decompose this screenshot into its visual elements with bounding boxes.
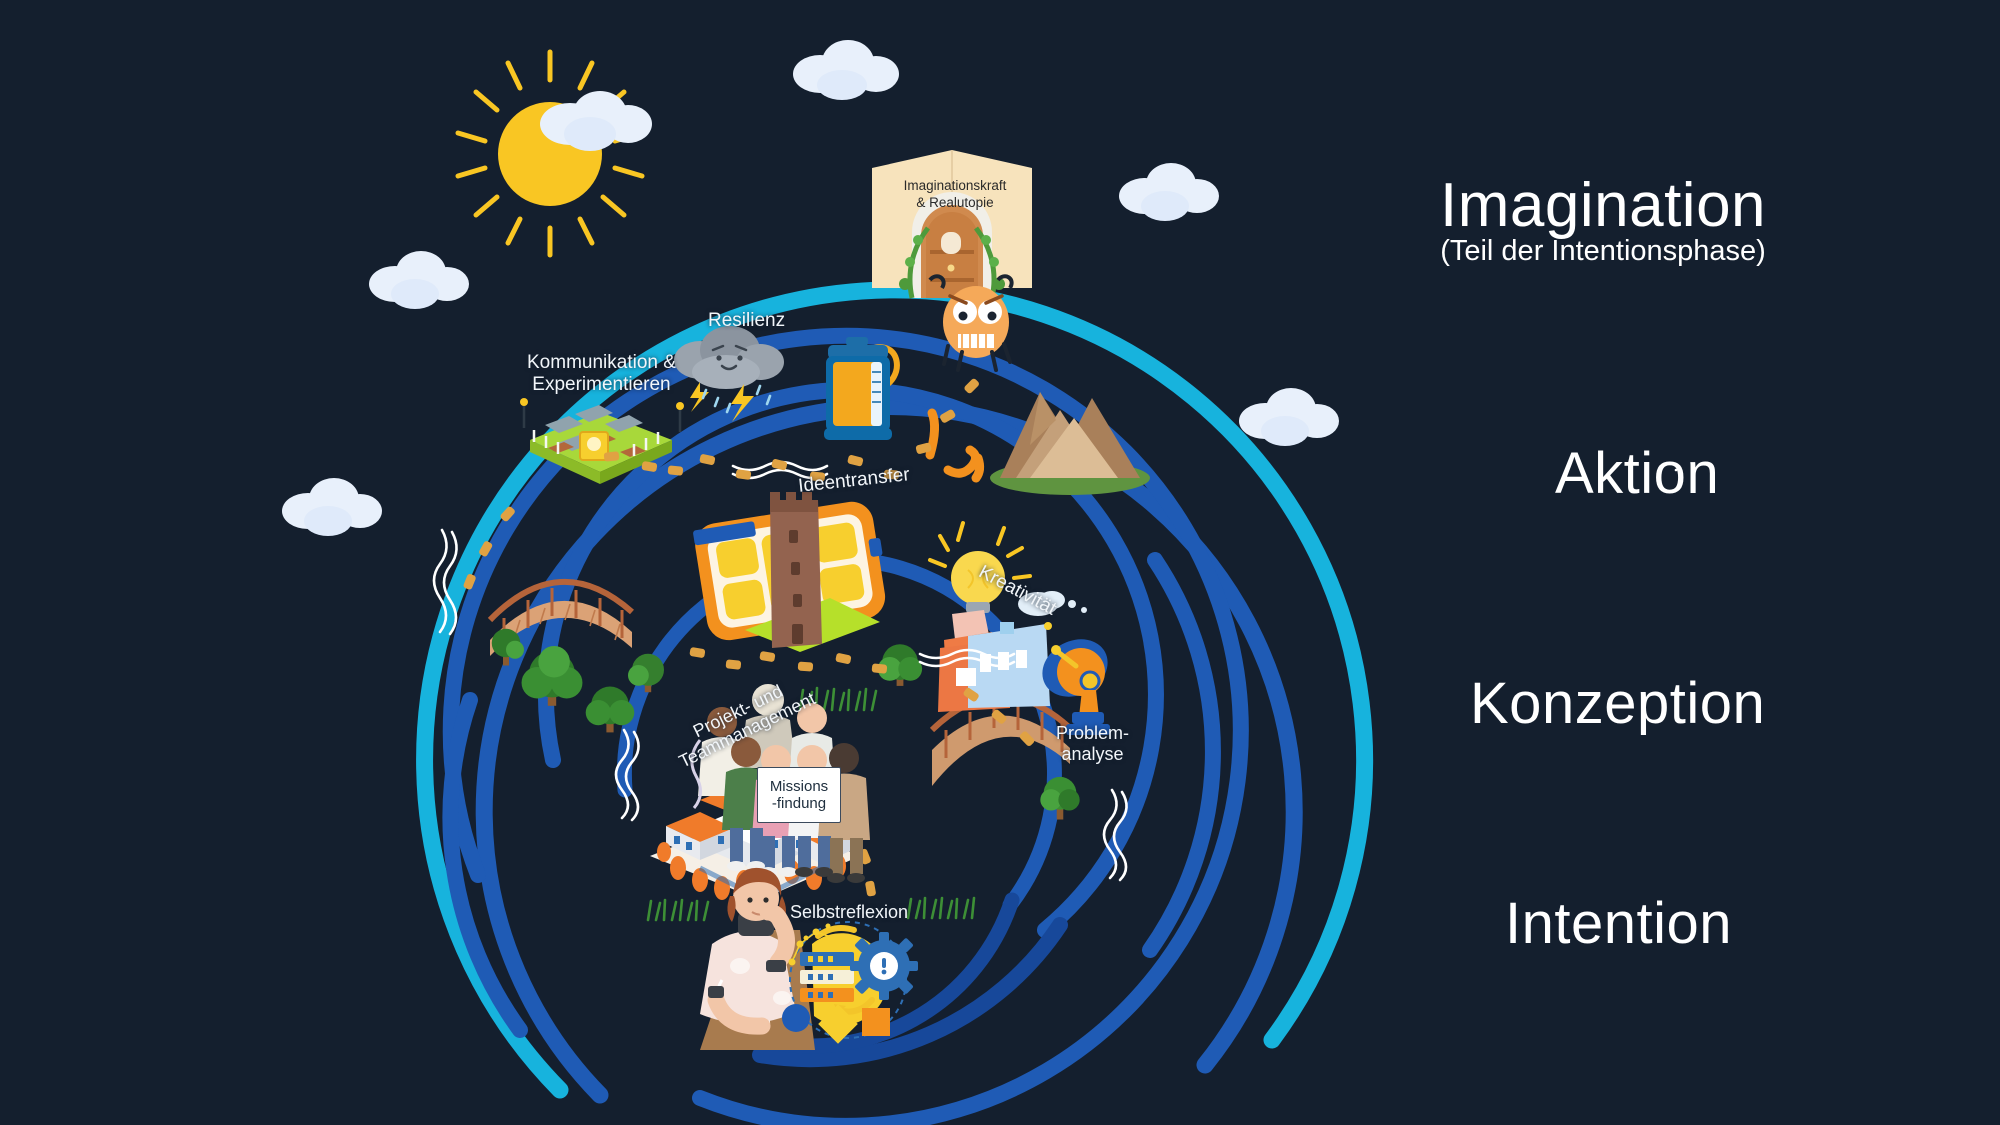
mission-box: Missions -findung [757,767,841,823]
label-kommunikation-line1: Kommunikation & [527,352,676,373]
label-problemanalyse-line1: Problem- [1056,723,1129,743]
label-kommunikation: Kommunikation & Experimentieren [527,352,676,396]
lantern-icon [824,337,897,440]
phase-title-aktion: Aktion [1555,441,1719,506]
phase-label-aktion: Aktion [1555,440,1719,507]
door-caption-line1: Imaginationskraft [904,178,1007,193]
infographic-canvas: Imaginationskraft & Realutopie Missions … [0,0,2000,1125]
mission-box-line2: -findung [772,795,826,812]
cloud-icon [282,40,1339,536]
phase-title-intention: Intention [1505,891,1732,956]
door-caption: Imaginationskraft & Realutopie [895,178,1015,212]
label-problemanalyse: Problem- analyse [1056,723,1129,764]
mission-box-line1: Missions [770,778,828,795]
tower-icon [770,492,822,648]
label-selbstreflexion-line1: Selbstreflexion [790,902,908,922]
label-problemanalyse-line2: analyse [1061,744,1123,764]
phase-subtitle-imagination: (Teil der Intentionsphase) [1440,235,1766,268]
label-selbstreflexion: Selbstreflexion [790,902,908,923]
phase-label-intention: Intention [1505,890,1732,957]
label-kommunikation-line2: Experimentieren [532,374,670,395]
sun-icon [458,52,642,255]
phase-label-konzeption: Konzeption [1470,670,1765,737]
door-caption-line2: & Realutopie [916,195,993,210]
label-resilienz-line1: Resilienz [708,310,785,331]
phase-label-imagination: Imagination (Teil der Intentionsphase) [1440,170,1766,268]
phase-title-konzeption: Konzeption [1470,671,1765,736]
phase-title-imagination: Imagination [1440,171,1766,240]
label-resilienz: Resilienz [708,310,785,332]
